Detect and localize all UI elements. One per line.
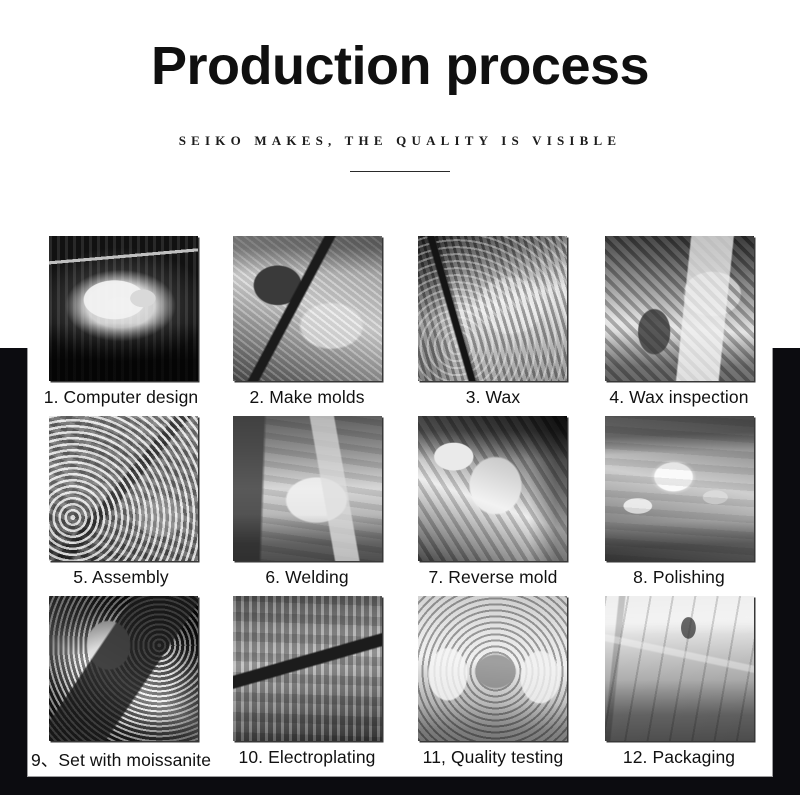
process-step-5-label: 5. Assembly <box>73 567 168 588</box>
assembly-photo <box>49 416 198 561</box>
process-step-6: 6. Welding <box>214 416 400 596</box>
process-step-3: 3. Wax <box>400 236 586 416</box>
process-step-2-label: 2. Make molds <box>249 387 364 408</box>
process-step-12: 12. Packaging <box>586 596 772 776</box>
set-with-moissanite-photo <box>49 596 198 741</box>
packaging-photo <box>605 596 754 741</box>
reverse-mold-photo <box>418 416 567 561</box>
page-subtitle: SEIKO MAKES, THE QUALITY IS VISIBLE <box>0 95 800 149</box>
process-step-4: 4. Wax inspection <box>586 236 772 416</box>
process-step-11-label: 11, Quality testing <box>423 747 564 768</box>
wax-inspection-photo <box>605 236 754 381</box>
page-header: Production process SEIKO MAKES, THE QUAL… <box>0 0 800 232</box>
page-title: Production process <box>0 0 800 95</box>
computer-design-photo <box>49 236 198 381</box>
electroplating-photo <box>233 596 382 741</box>
wax-photo <box>418 236 567 381</box>
process-step-6-label: 6. Welding <box>265 567 348 588</box>
process-step-1: 1. Computer design <box>28 236 214 416</box>
process-step-7-label: 7. Reverse mold <box>429 567 558 588</box>
make-molds-photo <box>233 236 382 381</box>
process-step-12-label: 12. Packaging <box>623 747 735 768</box>
process-step-9: 9、Set with moissanite <box>28 596 214 776</box>
process-step-10: 10. Electroplating <box>214 596 400 776</box>
process-step-9-label: 9、Set with moissanite <box>31 747 211 772</box>
process-step-7: 7. Reverse mold <box>400 416 586 596</box>
process-step-8: 8. Polishing <box>586 416 772 596</box>
process-step-3-label: 3. Wax <box>466 387 520 408</box>
process-step-5: 5. Assembly <box>28 416 214 596</box>
welding-photo <box>233 416 382 561</box>
process-step-4-label: 4. Wax inspection <box>609 387 748 408</box>
process-step-10-label: 10. Electroplating <box>238 747 375 768</box>
process-step-8-label: 8. Polishing <box>633 567 725 588</box>
process-step-2: 2. Make molds <box>214 236 400 416</box>
process-step-1-label: 1. Computer design <box>44 387 199 408</box>
quality-testing-photo <box>418 596 567 741</box>
process-steps-grid: 1. Computer design 2. Make molds 3. Wax … <box>28 236 772 776</box>
divider-rule <box>350 171 450 172</box>
polishing-photo <box>605 416 754 561</box>
process-step-11: 11, Quality testing <box>400 596 586 776</box>
